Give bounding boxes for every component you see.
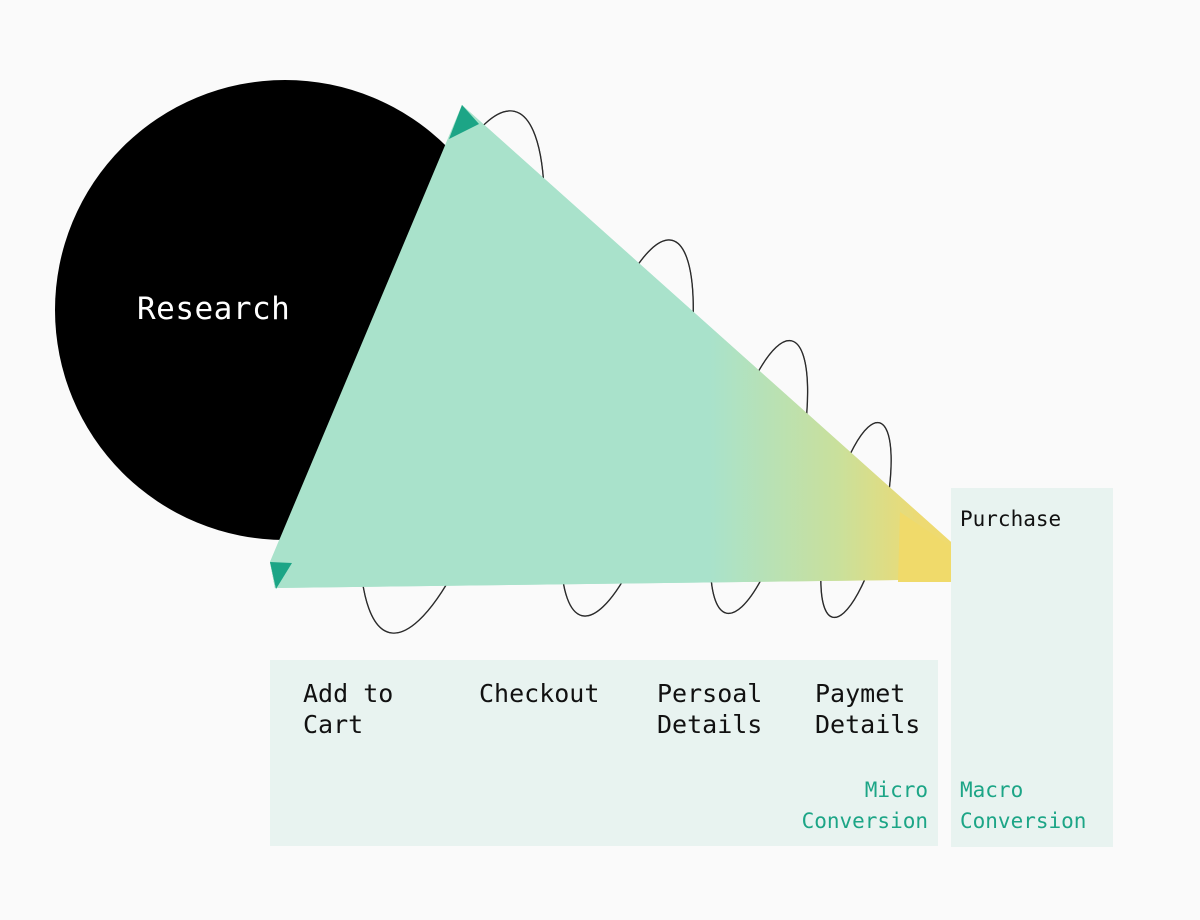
stage-label-checkout: Checkout — [479, 678, 599, 709]
macro-conversion-label: Macro Conversion — [960, 775, 1110, 837]
research-label: Research — [137, 291, 290, 327]
micro-conversion-label: Micro Conversion — [638, 775, 928, 837]
stage-label-personal-details: Persoal Details — [657, 678, 762, 740]
funnel-diagram: Research Add to Cart Checkout Persoal De… — [0, 0, 1200, 920]
stage-label-payment-details: Paymet Details — [815, 678, 920, 740]
stage-label-purchase: Purchase — [960, 506, 1061, 532]
stage-label-add-to-cart: Add to Cart — [303, 678, 393, 740]
